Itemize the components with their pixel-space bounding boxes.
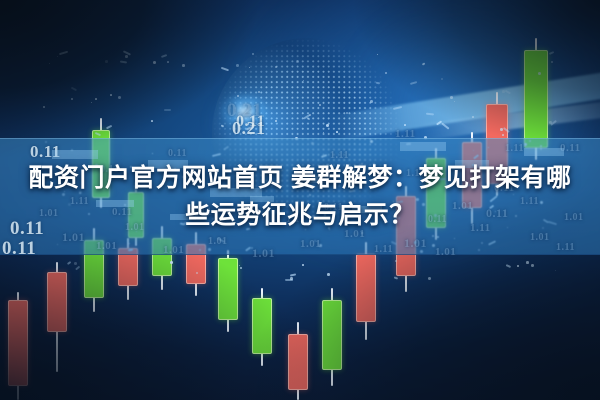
mini-bar-glyph [400, 142, 446, 151]
price-digit: 1.01 [404, 236, 427, 251]
page-title: 配资门户官方网站首页 姜群解梦：梦见打架有哪 些运势征兆与启示？ [0, 160, 600, 234]
price-digit: 1.01 [163, 244, 184, 256]
title-line-2: 些运势征兆与启示？ [8, 197, 592, 234]
price-digit: 1.11 [395, 128, 416, 140]
price-digit: 1.11 [556, 242, 575, 253]
price-digit: 1.01 [300, 238, 321, 250]
price-digit: 1.11 [505, 143, 524, 154]
price-digit: 0.11 [2, 238, 36, 260]
price-digit: 1.01 [252, 246, 275, 261]
price-digit: 1.01 [96, 240, 117, 252]
promo-banner: 0.110.210.111.110.211.011.110.110.111.01… [0, 0, 600, 400]
band-bottom-divider [0, 254, 600, 255]
price-digit: 1.01 [435, 246, 456, 258]
mini-bar-glyph [524, 148, 564, 156]
price-digit: 1.11 [374, 244, 393, 255]
price-digit: 1.01 [208, 236, 228, 247]
title-line-1: 配资门户官方网站首页 姜群解梦：梦见打架有哪 [8, 160, 592, 197]
price-digit: 0.11 [168, 148, 187, 159]
price-digit: 0.21 [232, 118, 266, 139]
band-top-divider [0, 138, 600, 139]
mini-bar-glyph [52, 150, 98, 159]
